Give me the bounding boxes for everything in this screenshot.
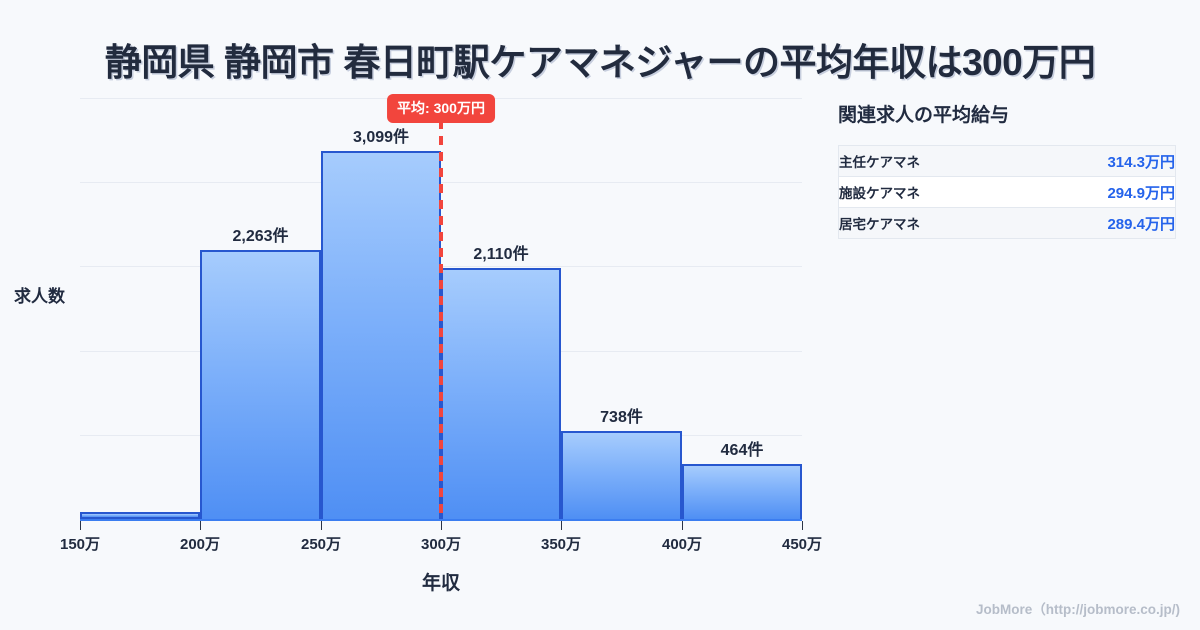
chart-panel: 求人数 2,263件3,099件2,110件738件464件150万200万25… — [0, 90, 830, 600]
x-axis-tick-label: 250万 — [301, 533, 341, 554]
related-salary-panel: 関連求人の平均給与 主任ケアマネ314.3万円施設ケアマネ294.9万円居宅ケア… — [838, 100, 1178, 239]
salary-role-label: 施設ケアマネ — [839, 177, 1023, 208]
histogram-bar — [561, 431, 682, 519]
plot-area: 2,263件3,099件2,110件738件464件150万200万250万30… — [80, 98, 802, 520]
related-salary-table: 主任ケアマネ314.3万円施設ケアマネ294.9万円居宅ケアマネ289.4万円 — [838, 145, 1176, 239]
x-axis-tick-label: 300万 — [421, 533, 461, 554]
average-marker-badge: 平均: 300万円 — [387, 94, 495, 123]
salary-value: 294.9万円 — [1022, 177, 1175, 208]
salary-role-label: 居宅ケアマネ — [839, 208, 1023, 239]
page-title: 静岡県 静岡市 春日町駅ケアマネジャーの平均年収は300万円 — [0, 32, 1200, 86]
chart-page: 静岡県 静岡市 春日町駅ケアマネジャーの平均年収は300万円 求人数 2,263… — [0, 0, 1200, 630]
x-axis-tick — [80, 521, 81, 530]
bar-value-label: 3,099件 — [321, 123, 441, 147]
x-axis-title: 年収 — [80, 568, 802, 595]
histogram-bar — [200, 250, 321, 519]
salary-value: 314.3万円 — [1022, 146, 1175, 177]
x-axis-tick-label: 350万 — [541, 533, 581, 554]
histogram-bar — [441, 268, 561, 519]
x-axis-tick-label: 150万 — [60, 533, 100, 554]
x-axis-tick — [321, 521, 322, 530]
bar-value-label: 2,110件 — [441, 240, 561, 264]
x-axis-tick — [802, 521, 803, 530]
y-axis-title: 求人数 — [14, 282, 65, 307]
side-panel-heading: 関連求人の平均給与 — [838, 100, 1178, 127]
watermark: JobMore（http://jobmore.co.jp/) — [976, 598, 1180, 618]
table-row: 施設ケアマネ294.9万円 — [839, 177, 1176, 208]
salary-value: 289.4万円 — [1022, 208, 1175, 239]
bar-value-label: 2,263件 — [200, 222, 321, 246]
histogram-bar — [321, 151, 441, 519]
average-marker-line — [439, 120, 443, 520]
histogram-bar — [80, 512, 200, 519]
bar-value-label: 464件 — [682, 436, 802, 460]
bar-value-label: 738件 — [561, 403, 682, 427]
table-row: 居宅ケアマネ289.4万円 — [839, 208, 1176, 239]
x-axis-tick — [441, 521, 442, 530]
x-axis-tick — [561, 521, 562, 530]
histogram-bar — [682, 464, 802, 519]
x-axis-tick — [200, 521, 201, 530]
x-axis-tick — [682, 521, 683, 530]
x-axis-tick-label: 400万 — [662, 533, 702, 554]
x-axis-tick-label: 450万 — [782, 533, 822, 554]
salary-role-label: 主任ケアマネ — [839, 146, 1023, 177]
table-row: 主任ケアマネ314.3万円 — [839, 146, 1176, 177]
x-axis-tick-label: 200万 — [180, 533, 220, 554]
